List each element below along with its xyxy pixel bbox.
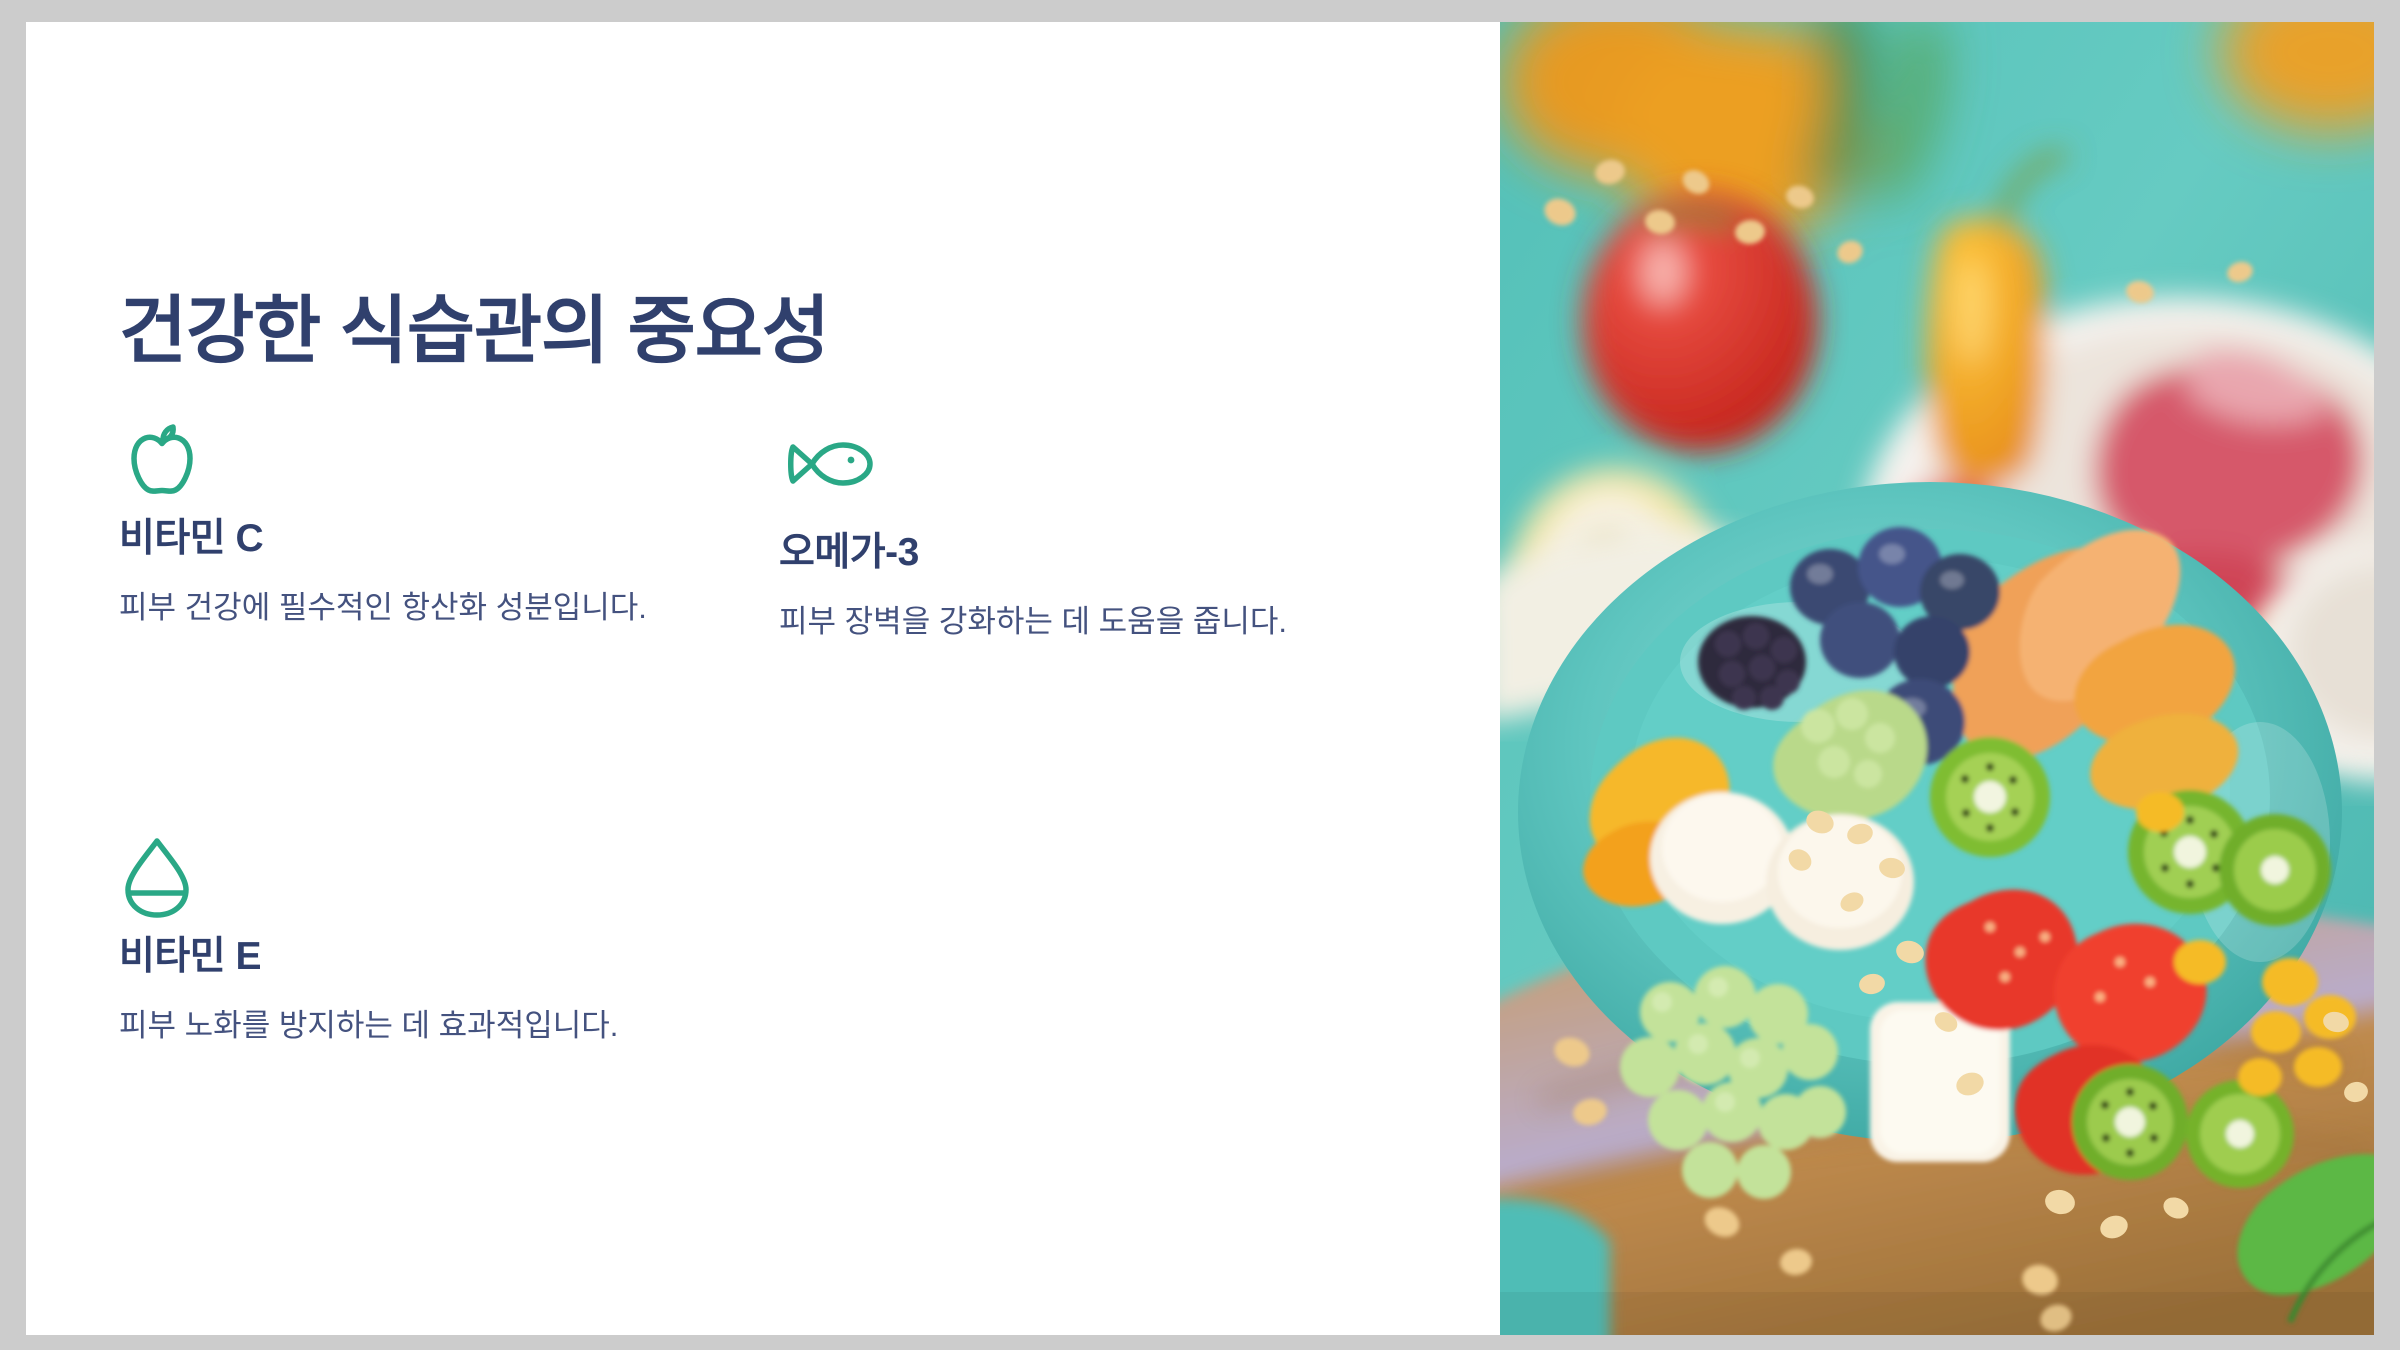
feature-description: 피부 노화를 방지하는 데 효과적입니다. — [119, 1002, 739, 1050]
feature-description: 피부 장벽을 강화하는 데 도움을 줍니다. — [779, 598, 1384, 646]
feature-description: 피부 건강에 필수적인 항산화 성분입니다. — [119, 584, 694, 632]
water-drop-icon — [119, 835, 719, 921]
apple-icon — [119, 417, 719, 503]
feature-title: 오메가-3 — [779, 531, 1379, 576]
content-panel: 건강한 식습관의 중요성 비타민 C 피부 건강에 필수적인 항산화 성분입니다… — [26, 22, 1500, 1335]
fish-icon — [779, 431, 1379, 517]
slide-canvas: 건강한 식습관의 중요성 비타민 C 피부 건강에 필수적인 항산화 성분입니다… — [26, 22, 2374, 1335]
feature-item-omega-3: 오메가-3 피부 장벽을 강화하는 데 도움을 줍니다. — [779, 431, 1379, 646]
feature-title: 비타민 C — [119, 517, 719, 562]
feature-title: 비타민 E — [119, 935, 719, 980]
page-title: 건강한 식습관의 중요성 — [119, 290, 829, 371]
feature-item-vitamin-e: 비타민 E 피부 노화를 방지하는 데 효과적입니다. — [119, 835, 719, 1050]
slide-frame: 건강한 식습관의 중요성 비타민 C 피부 건강에 필수적인 항산화 성분입니다… — [0, 0, 2400, 1350]
feature-item-vitamin-c: 비타민 C 피부 건강에 필수적인 항산화 성분입니다. — [119, 417, 719, 632]
food-photo — [1500, 22, 2374, 1335]
